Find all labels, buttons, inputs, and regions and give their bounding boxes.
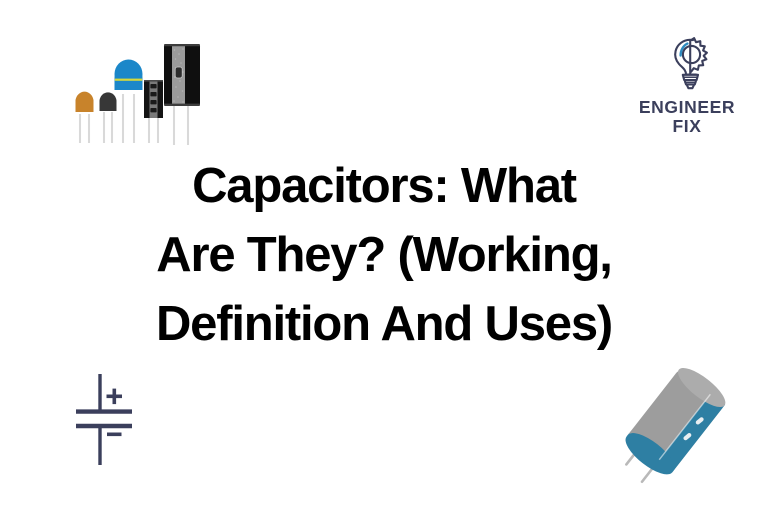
page-title: Capacitors: What Are They? (Working, Def… (0, 152, 768, 359)
title-line-2: Are They? (Working, (0, 221, 768, 290)
engineer-fix-logo[interactable]: ENGINEER FIX (612, 30, 762, 142)
lightbulb-gear-icon (646, 30, 726, 96)
logo-line-2: FIX (612, 117, 762, 136)
title-line-3: Definition And Uses) (0, 290, 768, 359)
polarized-capacitor-symbol (74, 372, 150, 468)
orange-ceramic-disc-capacitor (76, 92, 94, 112)
poster-canvas: ENGINEER FIX Capacitors: What Are They? … (0, 0, 768, 512)
logo-wordmark: ENGINEER FIX (612, 98, 762, 136)
tilted-electrolytic-capacitor-illustration (610, 362, 760, 502)
black-ceramic-disc-capacitor (100, 92, 117, 111)
blue-disc-capacitor (115, 60, 143, 91)
small-electrolytic-capacitor (144, 80, 163, 118)
plus-sign (107, 389, 123, 405)
logo-line-1: ENGINEER (612, 98, 762, 117)
capacitor-photo-row (62, 32, 214, 150)
title-line-1: Capacitors: What (0, 152, 768, 221)
large-electrolytic-capacitor (164, 44, 200, 106)
minus-sign (107, 433, 122, 437)
